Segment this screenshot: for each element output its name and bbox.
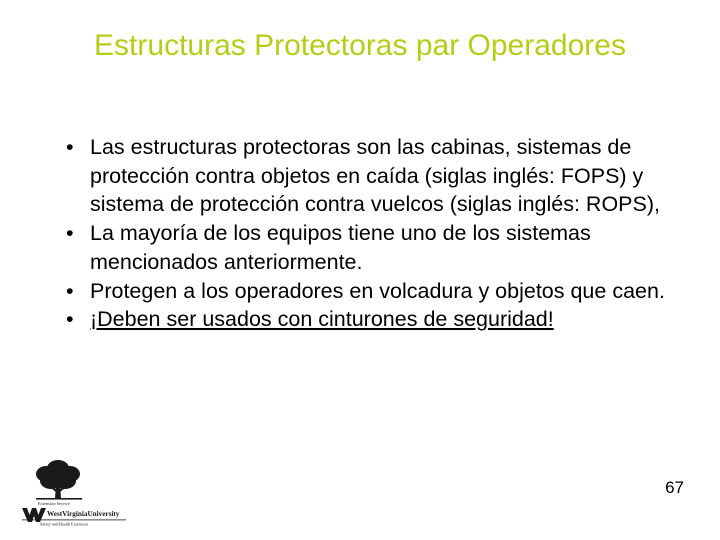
list-item-text: La mayoría de los equipos tiene uno de l… — [90, 219, 672, 276]
svg-text:WestVirginiaUniversity: WestVirginiaUniversity — [47, 510, 120, 518]
bullet-list: • Las estructuras protectoras son las ca… — [52, 133, 672, 334]
list-item: • ¡Deben ser usados con cinturones de se… — [52, 305, 672, 334]
svg-text:Safety and Health Extension: Safety and Health Extension — [40, 522, 89, 527]
bullet-icon: • — [66, 305, 74, 334]
west-virginia-university-logo: Extension Service WestVirginiaUniversity… — [18, 452, 130, 528]
svg-text:Extension Service: Extension Service — [38, 501, 70, 506]
list-item: • Las estructuras protectoras son las ca… — [52, 133, 672, 219]
list-item-text: Protegen a los operadores en volcadura y… — [90, 277, 672, 306]
bullet-icon: • — [66, 219, 74, 248]
slide: Estructuras Protectoras par Operadores •… — [0, 0, 720, 540]
slide-body: • Las estructuras protectoras son las ca… — [52, 133, 672, 334]
bullet-icon: • — [66, 133, 74, 162]
list-item: • La mayoría de los equipos tiene uno de… — [52, 219, 672, 276]
page-title: Estructuras Protectoras par Operadores — [40, 26, 680, 66]
list-item-text: ¡Deben ser usados con cinturones de segu… — [90, 305, 672, 334]
bullet-icon: • — [66, 277, 74, 306]
list-item-text: Las estructuras protectoras son las cabi… — [90, 133, 672, 219]
page-number: 67 — [665, 478, 684, 498]
list-item: • Protegen a los operadores en volcadura… — [52, 277, 672, 306]
